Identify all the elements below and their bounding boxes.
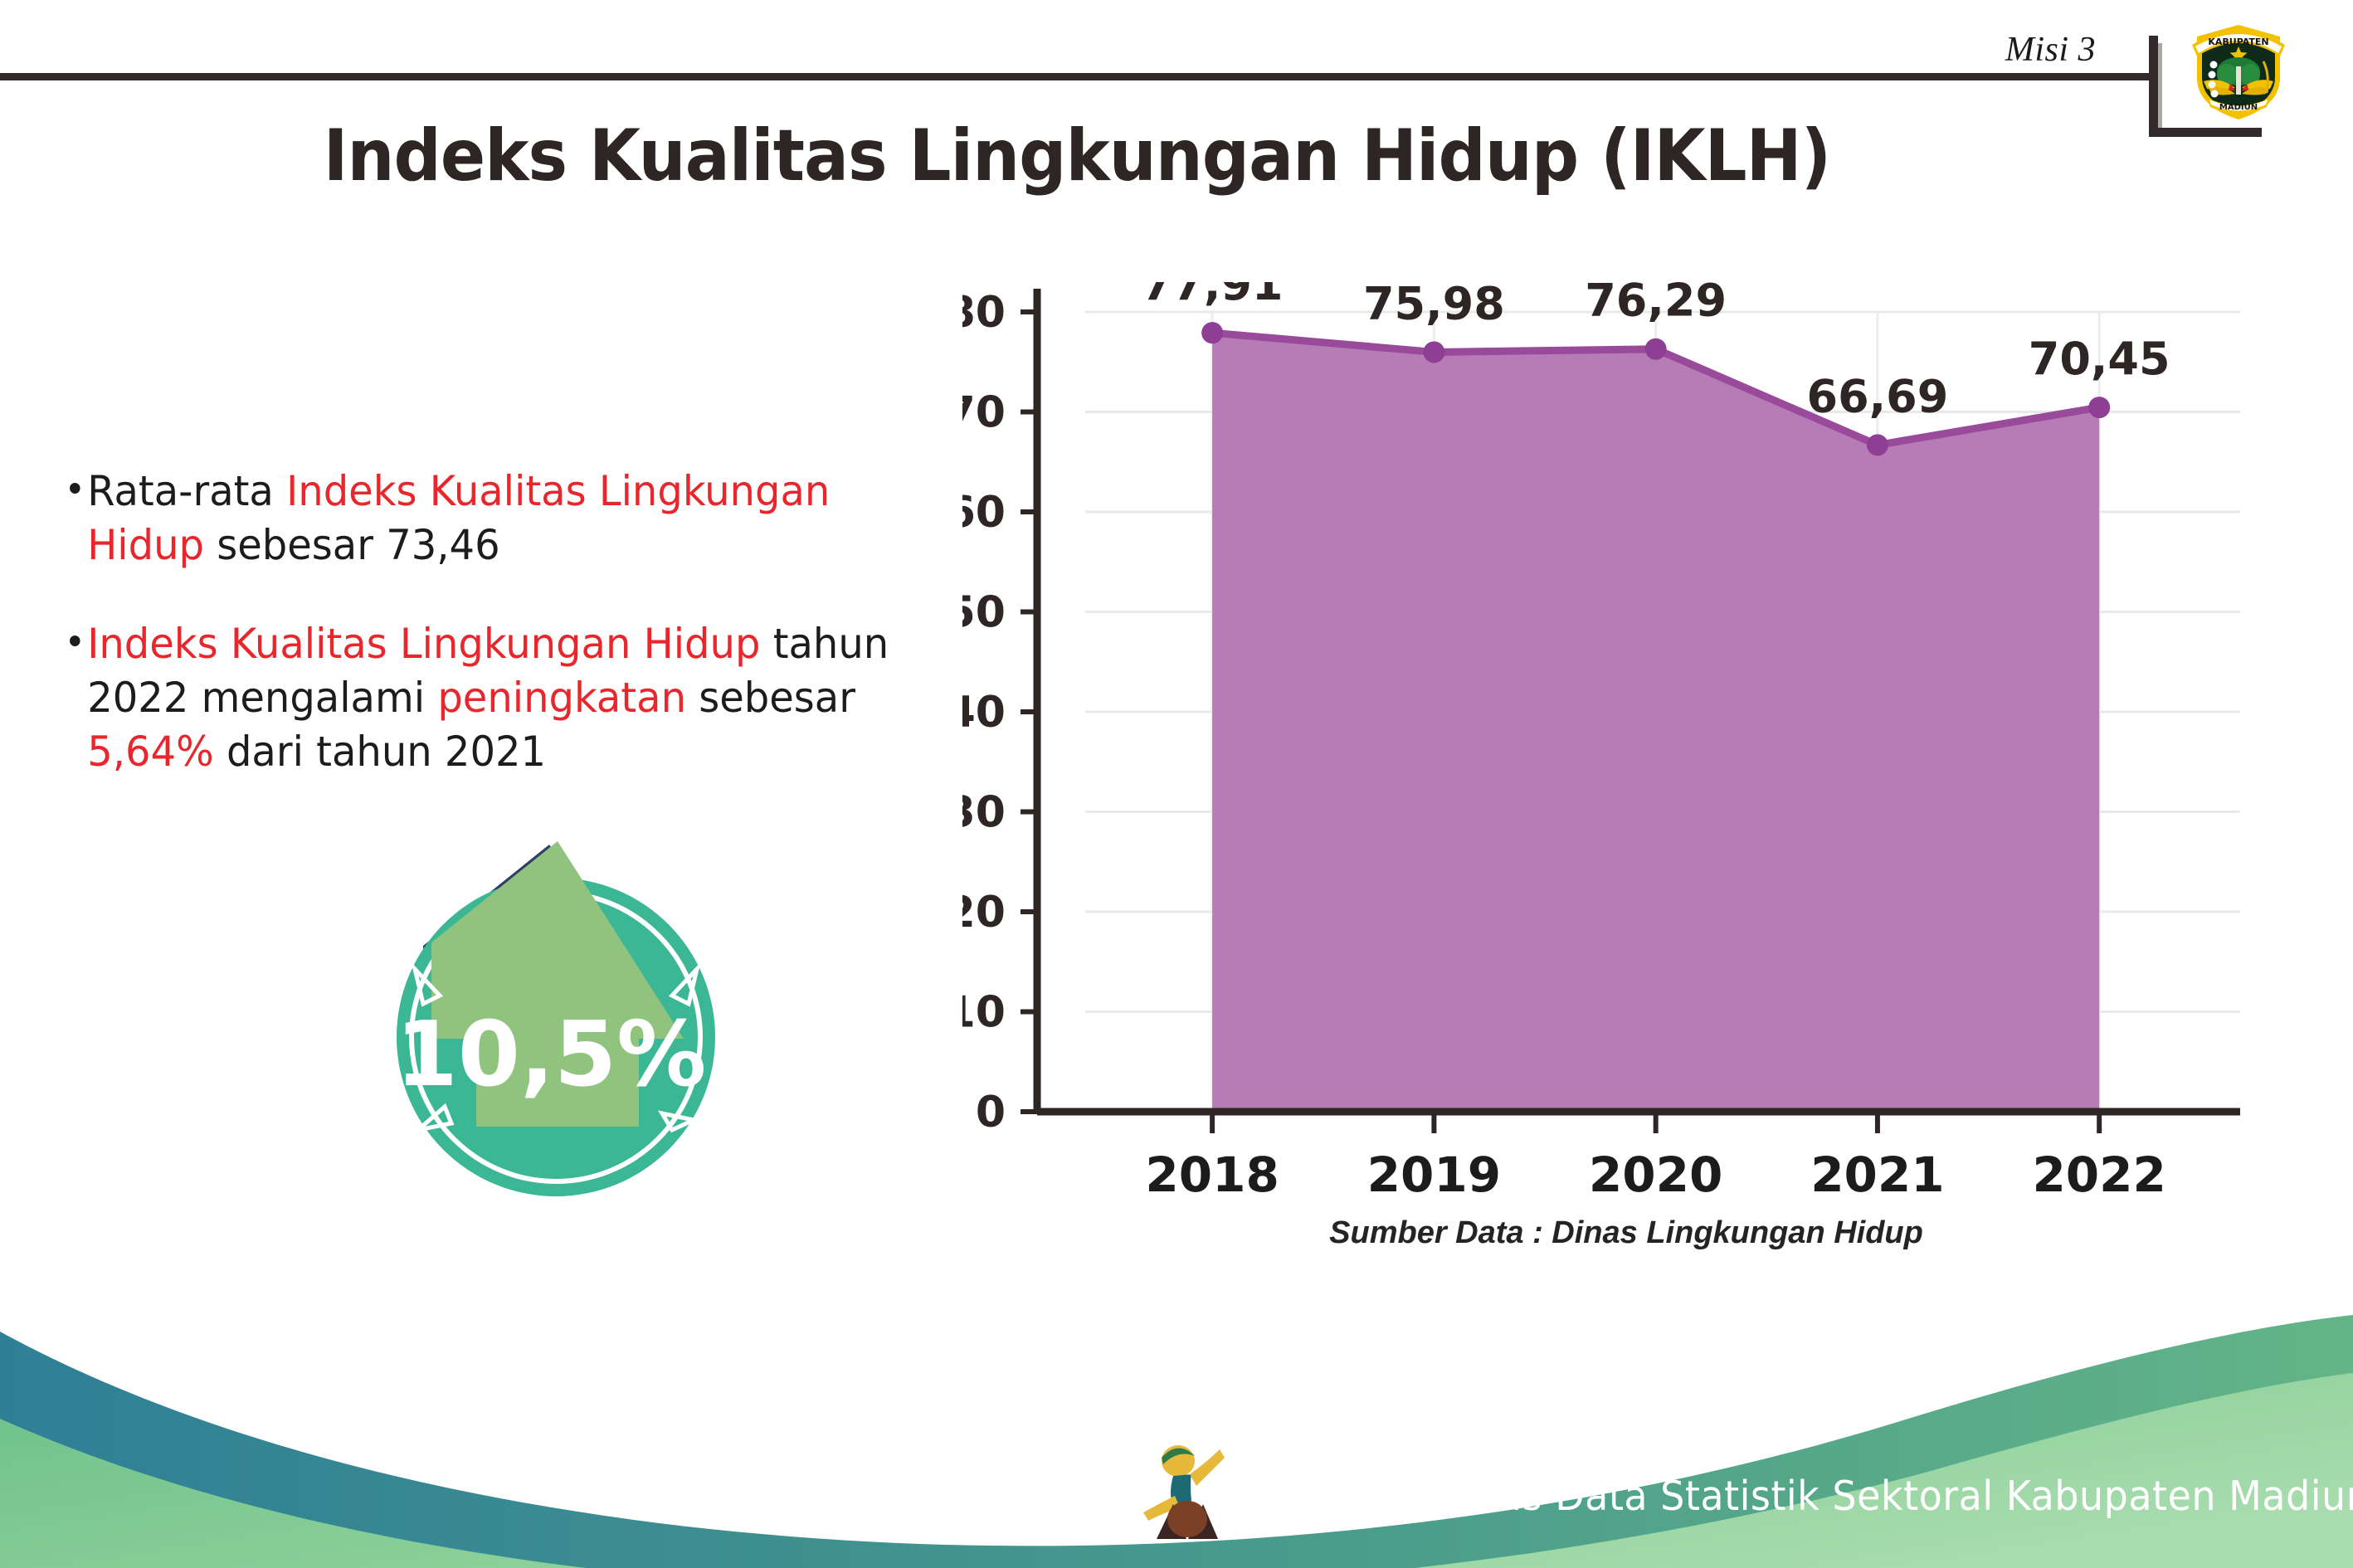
plain-text: sebesar 73,46 — [204, 521, 500, 569]
plain-text: Rata-rata — [87, 467, 286, 515]
x-axis-tick-label: 2018 — [1145, 1147, 1279, 1203]
misi-label: Misi 3 — [2005, 30, 2096, 70]
data-point-marker — [2088, 397, 2110, 418]
bullet-dot-icon — [70, 483, 80, 494]
y-axis-tick-label: 70 — [962, 388, 1006, 438]
chart-area-series — [1212, 333, 2099, 1112]
y-axis-tick-label: 40 — [962, 688, 1006, 738]
data-point-label: 76,29 — [1585, 282, 1727, 327]
growth-badge-graphic: 10,5% — [325, 755, 773, 1220]
plain-text: sebesar — [686, 674, 855, 722]
insight-bullet-1: Rata-rata Indeks Kualitas Lingkungan Hid… — [71, 465, 932, 572]
bullet-dot-icon — [70, 635, 80, 646]
chart-source-caption: Sumber Data : Dinas Lingkungan Hidup — [962, 1215, 2290, 1251]
x-axis-tick-label: 2019 — [1367, 1147, 1501, 1203]
y-axis-tick-label: 30 — [962, 788, 1006, 838]
header-divider-rule — [0, 73, 2154, 80]
media-infografis-figure-icon — [1140, 1438, 1226, 1541]
y-axis-tick-label: 0 — [976, 1088, 1006, 1137]
chart-y-axis: 01020304050607080 — [962, 288, 1037, 1137]
area-fill — [1212, 333, 2099, 1112]
logo-top-text: KABUPATEN — [2208, 37, 2268, 47]
highlight-text: Indeks Kualitas Lingkungan Hidup — [87, 620, 760, 668]
y-axis-tick-label: 60 — [962, 488, 1006, 538]
data-point-label: 70,45 — [2029, 333, 2170, 385]
growth-badge: 10,5% — [325, 755, 773, 1220]
y-axis-tick-label: 10 — [962, 988, 1006, 1038]
footer-caption: Media Infografis Data Statistik Sektoral… — [1230, 1473, 2353, 1520]
data-point-marker — [1645, 338, 1667, 360]
badge-value-label: 10,5% — [396, 1003, 707, 1107]
data-point-marker — [1423, 341, 1444, 363]
data-point-label: 77,91 — [1142, 282, 1284, 310]
y-axis-tick-label: 20 — [962, 888, 1006, 937]
highlight-text: 5,64% — [87, 728, 213, 776]
x-axis-tick-label: 2022 — [2032, 1147, 2165, 1203]
kabupaten-madiun-logo-icon: KABUPATEN MADIUN — [2187, 12, 2290, 123]
logo-bottom-text: MADIUN — [2219, 103, 2258, 112]
iklh-area-chart: 77,9175,9876,2966,6970,45 01020304050607… — [962, 282, 2290, 1211]
data-point-label: 75,98 — [1363, 282, 1505, 329]
y-axis-tick-label: 80 — [962, 288, 1006, 338]
highlight-text: peningkatan — [437, 674, 686, 722]
logo-bracket-vertical-shadow — [2158, 43, 2162, 137]
logo-bracket-horizontal — [2149, 128, 2262, 137]
data-point-label: 66,69 — [1807, 370, 1949, 422]
logo-bracket-vertical — [2149, 36, 2158, 137]
data-point-marker — [1867, 434, 1888, 455]
page-title: Indeks Kualitas Lingkungan Hidup (IKLH) — [76, 114, 2078, 197]
insight-bullet-1-text: Rata-rata Indeks Kualitas Lingkungan Hid… — [71, 465, 932, 572]
x-axis-tick-label: 2020 — [1589, 1147, 1722, 1203]
iklh-chart-svg: 77,9175,9876,2966,6970,45 01020304050607… — [962, 282, 2290, 1211]
data-point-marker — [1201, 322, 1223, 343]
x-axis-tick-label: 2021 — [1810, 1147, 1944, 1203]
y-axis-tick-label: 50 — [962, 588, 1006, 638]
chart-x-axis: 20182019202020212022 — [1037, 1112, 2240, 1203]
